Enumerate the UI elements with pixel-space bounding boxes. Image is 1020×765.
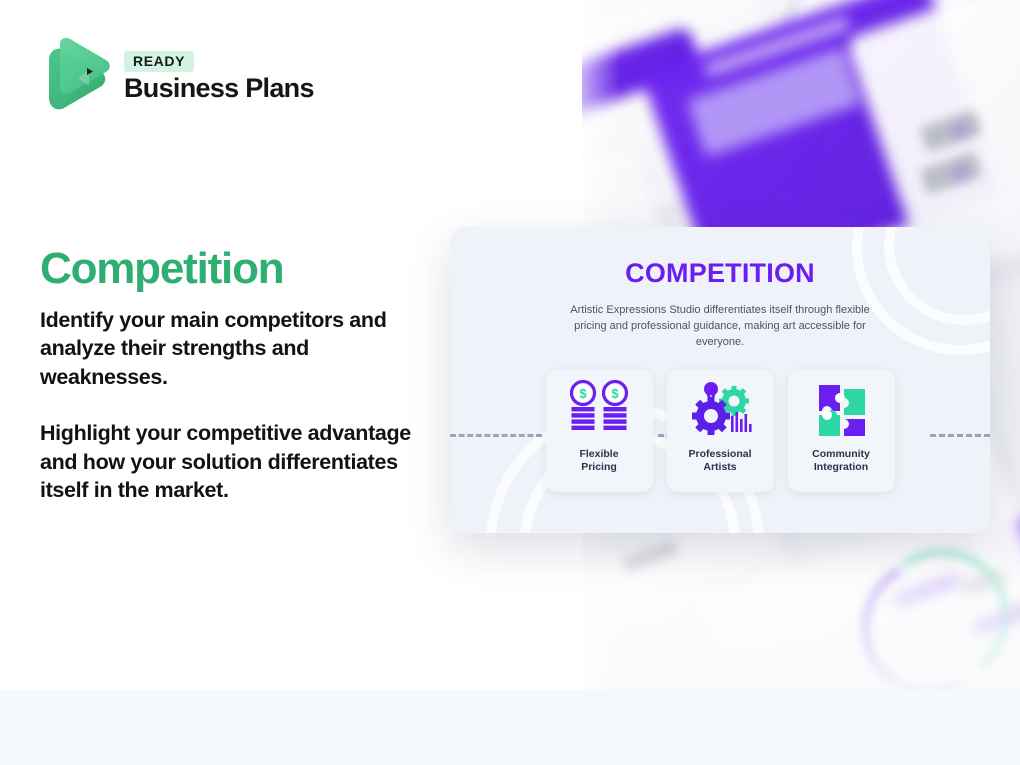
background-dot-1 <box>956 126 965 135</box>
svg-text:$: $ <box>611 386 619 401</box>
decorative-ring-2 <box>852 227 990 355</box>
body-paragraph-2: Highlight your competitive advantage and… <box>40 419 435 504</box>
play-triangle-logo-icon <box>40 38 110 116</box>
feature-row: $ $ Flexible Pricing <box>450 370 990 492</box>
feature-card-community-integration[interactable]: Community Integration <box>788 370 895 492</box>
page-title: Competition <box>40 245 283 293</box>
gears-lightbulb-chart-icon <box>686 380 754 442</box>
feature-label-line-2: Pricing <box>581 461 617 473</box>
feature-card-flexible-pricing[interactable]: $ $ Flexible Pricing <box>546 370 653 492</box>
slide-subtitle: Artistic Expressions Studio differentiat… <box>570 303 870 351</box>
slide-title: COMPETITION <box>450 258 990 289</box>
brand-name: Business Plans <box>124 74 314 102</box>
feature-label-line-1: Flexible <box>579 448 618 460</box>
body-paragraph-1: Identify your main competitors and analy… <box>40 306 435 391</box>
feature-label-flexible-pricing: Flexible Pricing <box>579 448 618 474</box>
svg-text:$: $ <box>579 386 587 401</box>
feature-label-line-1: Community <box>812 448 870 460</box>
feature-label-line-2: Integration <box>814 461 868 473</box>
slide-preview-card[interactable]: COMPETITION Artistic Expressions Studio … <box>450 227 990 533</box>
brand-logo[interactable]: READY Business Plans <box>40 38 314 116</box>
footer-band <box>0 690 1020 765</box>
background-dot-2 <box>956 168 965 177</box>
feature-card-professional-artists[interactable]: Professional Artists <box>667 370 774 492</box>
slide-page: READY Business Plans Competition Identif… <box>0 0 1020 765</box>
puzzle-pieces-icon <box>807 380 875 442</box>
feature-label-line-2: Artists <box>703 461 736 473</box>
body-copy: Identify your main competitors and analy… <box>40 306 435 504</box>
coin-stacks-icon: $ $ <box>565 380 633 442</box>
feature-label-line-1: Professional <box>688 448 751 460</box>
feature-label-community-integration: Community Integration <box>812 448 870 474</box>
ready-badge: READY <box>124 51 194 72</box>
feature-label-professional-artists: Professional Artists <box>688 448 751 474</box>
brand-text: READY Business Plans <box>124 51 314 102</box>
